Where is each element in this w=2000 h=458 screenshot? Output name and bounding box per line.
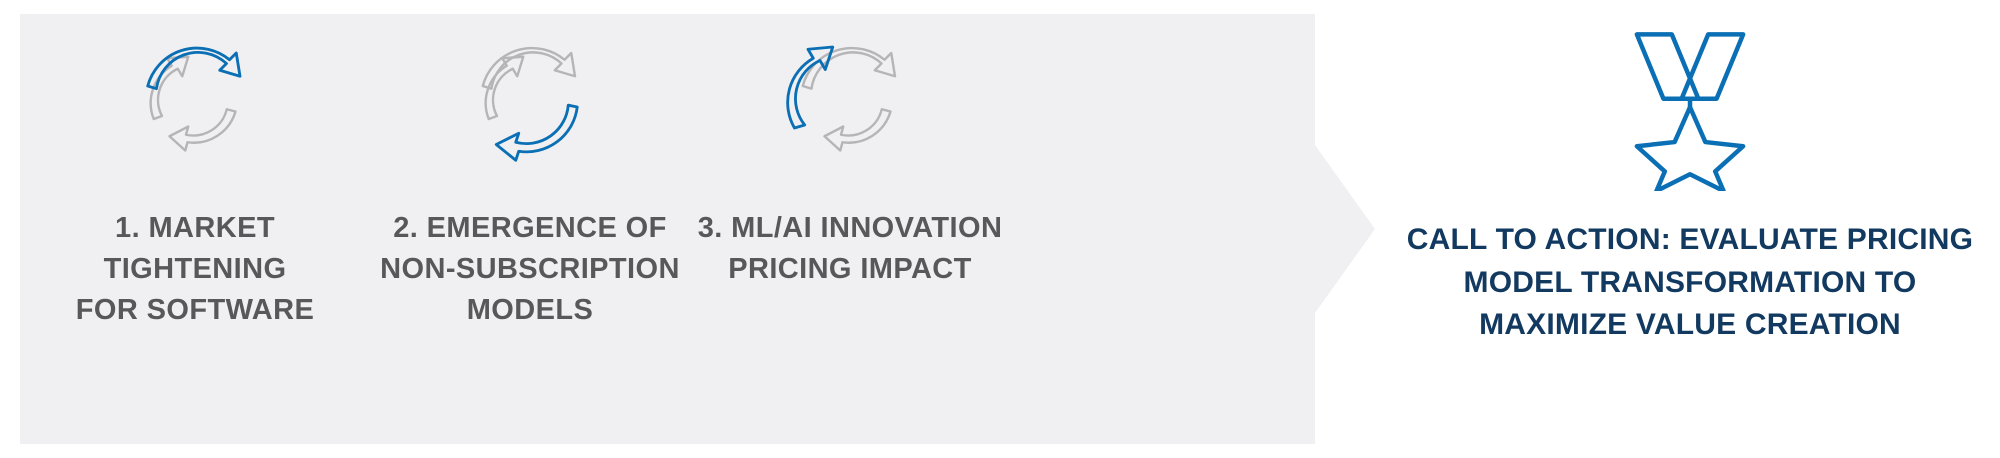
process-step-3[interactable]: 3. ML/AI INNOVATION PRICING IMPACT bbox=[685, 26, 1015, 290]
medal-award-icon bbox=[1620, 26, 1760, 191]
process-step-2-label: 2. EMERGENCE OF NON-SUBSCRIPTION MODELS bbox=[380, 208, 680, 332]
process-step-1[interactable]: 1. MARKET TIGHTENING FOR SOFTWARE bbox=[30, 26, 360, 332]
cycle-arrows-icon bbox=[455, 26, 605, 176]
call-to-action-block[interactable]: CALL TO ACTION: EVALUATE PRICING MODEL T… bbox=[1400, 26, 1980, 347]
call-to-action-text: CALL TO ACTION: EVALUATE PRICING MODEL T… bbox=[1407, 219, 1973, 347]
cycle-arrows-icon bbox=[120, 26, 270, 176]
infographic-canvas: 1. MARKET TIGHTENING FOR SOFTWARE 2. EME… bbox=[0, 0, 2000, 458]
cycle-arrows-icon bbox=[775, 26, 925, 176]
process-step-2[interactable]: 2. EMERGENCE OF NON-SUBSCRIPTION MODELS bbox=[365, 26, 695, 332]
process-step-1-label: 1. MARKET TIGHTENING FOR SOFTWARE bbox=[30, 208, 360, 332]
process-step-3-label: 3. ML/AI INNOVATION PRICING IMPACT bbox=[698, 208, 1003, 290]
